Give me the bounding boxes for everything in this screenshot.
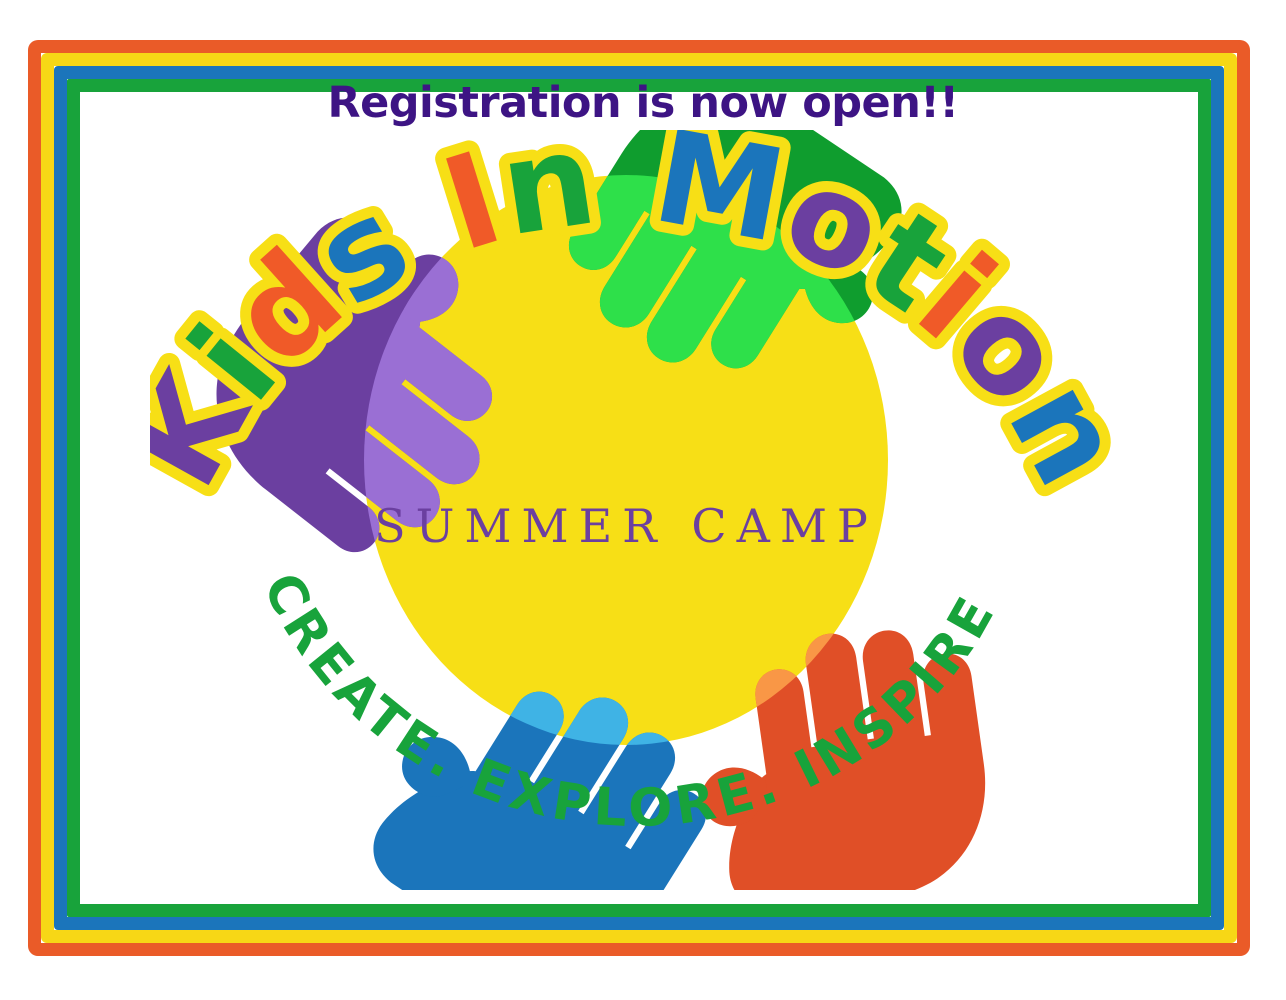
- headline-text: Registration is now open!!: [0, 78, 1286, 128]
- poster-canvas: Registration is now open!!: [0, 0, 1286, 1000]
- camp-logo: Kids In Motion Kids In Motion SUMMER CAM…: [150, 130, 1130, 890]
- subtitle-summer-camp: SUMMER CAMP: [374, 499, 878, 553]
